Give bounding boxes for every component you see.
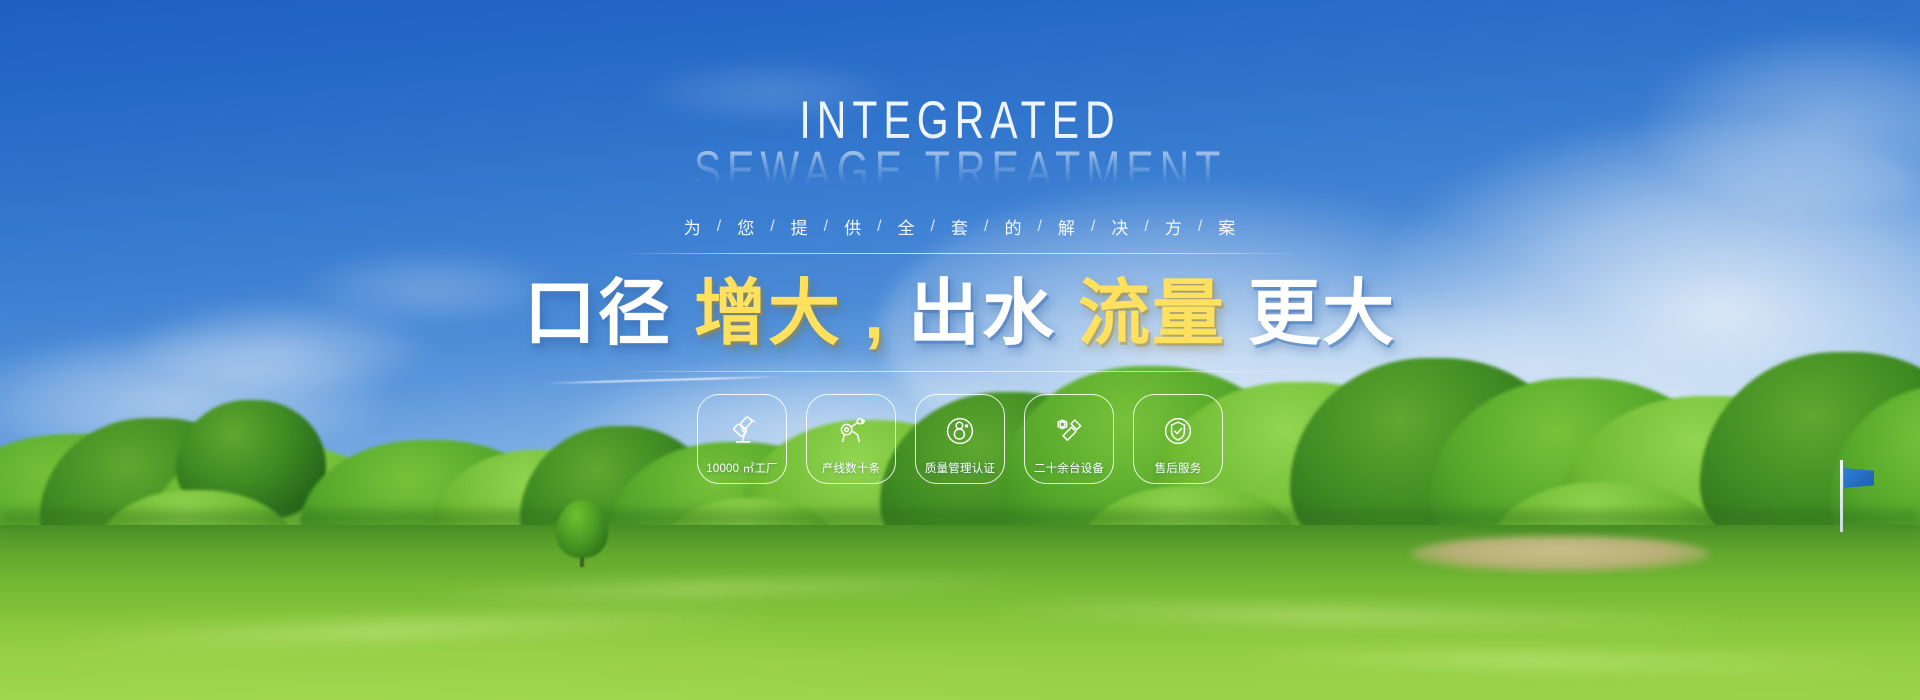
headline-segment: 增大 (694, 274, 842, 354)
headline-segment: , (864, 274, 886, 354)
shield-check-icon (1134, 412, 1222, 450)
subtitle-char: 的 (989, 214, 1037, 239)
subtitle-char: 案 (1203, 214, 1251, 239)
page-title: 口径 增大 , 出水 流量 更大 (524, 274, 1396, 355)
microscope-icon (698, 412, 786, 450)
headline-segment: 出水 (908, 274, 1056, 354)
certified-person-icon (916, 412, 1004, 450)
feature-badge-label: 售后服务 (1155, 460, 1202, 476)
subtitle-char: 为 (669, 214, 717, 239)
sand-bunker (1410, 536, 1710, 572)
feature-badge-row: 10000 ㎡工厂 产线数十条 (697, 394, 1223, 484)
headline-segment: 更大 (1248, 274, 1396, 354)
banner-content: INTEGRATED SEWAGE TREATMENT 为 / 您 / 提 / … (0, 0, 1920, 484)
english-title-line1: INTEGRATED (694, 96, 1227, 145)
subtitle-char: 您 (722, 214, 770, 239)
subtitle-char: 供 (829, 214, 877, 239)
english-title-block: INTEGRATED SEWAGE TREATMENT (694, 96, 1227, 184)
mow-stripe (980, 599, 1740, 634)
feature-badge-certification[interactable]: 质量管理认证 (915, 394, 1005, 484)
subtitle-char: 解 (1043, 214, 1091, 239)
lone-tree (556, 500, 608, 558)
bolt-nut-icon (1025, 412, 1113, 450)
english-title-line2: SEWAGE TREATMENT (694, 146, 1227, 195)
subtitle-row: 为 / 您 / 提 / 供 / 全 / 套 / 的 / 解 / 决 / 方 / … (669, 214, 1252, 239)
feature-badge-production-lines[interactable]: 产线数十条 (806, 394, 896, 484)
subtitle-char: 提 (776, 214, 824, 239)
headline-segment: 口径 (524, 274, 672, 354)
feature-badge-factory[interactable]: 10000 ㎡工厂 (697, 394, 787, 484)
subtitle-char: 全 (883, 214, 931, 239)
production-line-icon (807, 412, 895, 450)
mow-stripe (420, 572, 1040, 603)
feature-badge-label: 产线数十条 (822, 460, 881, 476)
subtitle-char: 决 (1096, 214, 1144, 239)
feature-badge-equipment[interactable]: 二十余台设备 (1024, 394, 1114, 484)
divider-bottom (619, 371, 1301, 372)
feature-badge-label: 质量管理认证 (925, 460, 995, 476)
hero-banner: INTEGRATED SEWAGE TREATMENT 为 / 您 / 提 / … (0, 0, 1920, 700)
feature-badge-label: 10000 ㎡工厂 (706, 460, 777, 476)
mow-stripe (60, 604, 780, 654)
feature-badge-after-sales[interactable]: 售后服务 (1133, 394, 1223, 484)
subtitle-char: 套 (936, 214, 984, 239)
headline-segment: 流量 (1078, 274, 1226, 354)
mow-stripe (1240, 648, 1880, 675)
subtitle-char: 方 (1150, 214, 1198, 239)
divider-top (619, 253, 1301, 254)
feature-badge-label: 二十余台设备 (1034, 460, 1104, 476)
